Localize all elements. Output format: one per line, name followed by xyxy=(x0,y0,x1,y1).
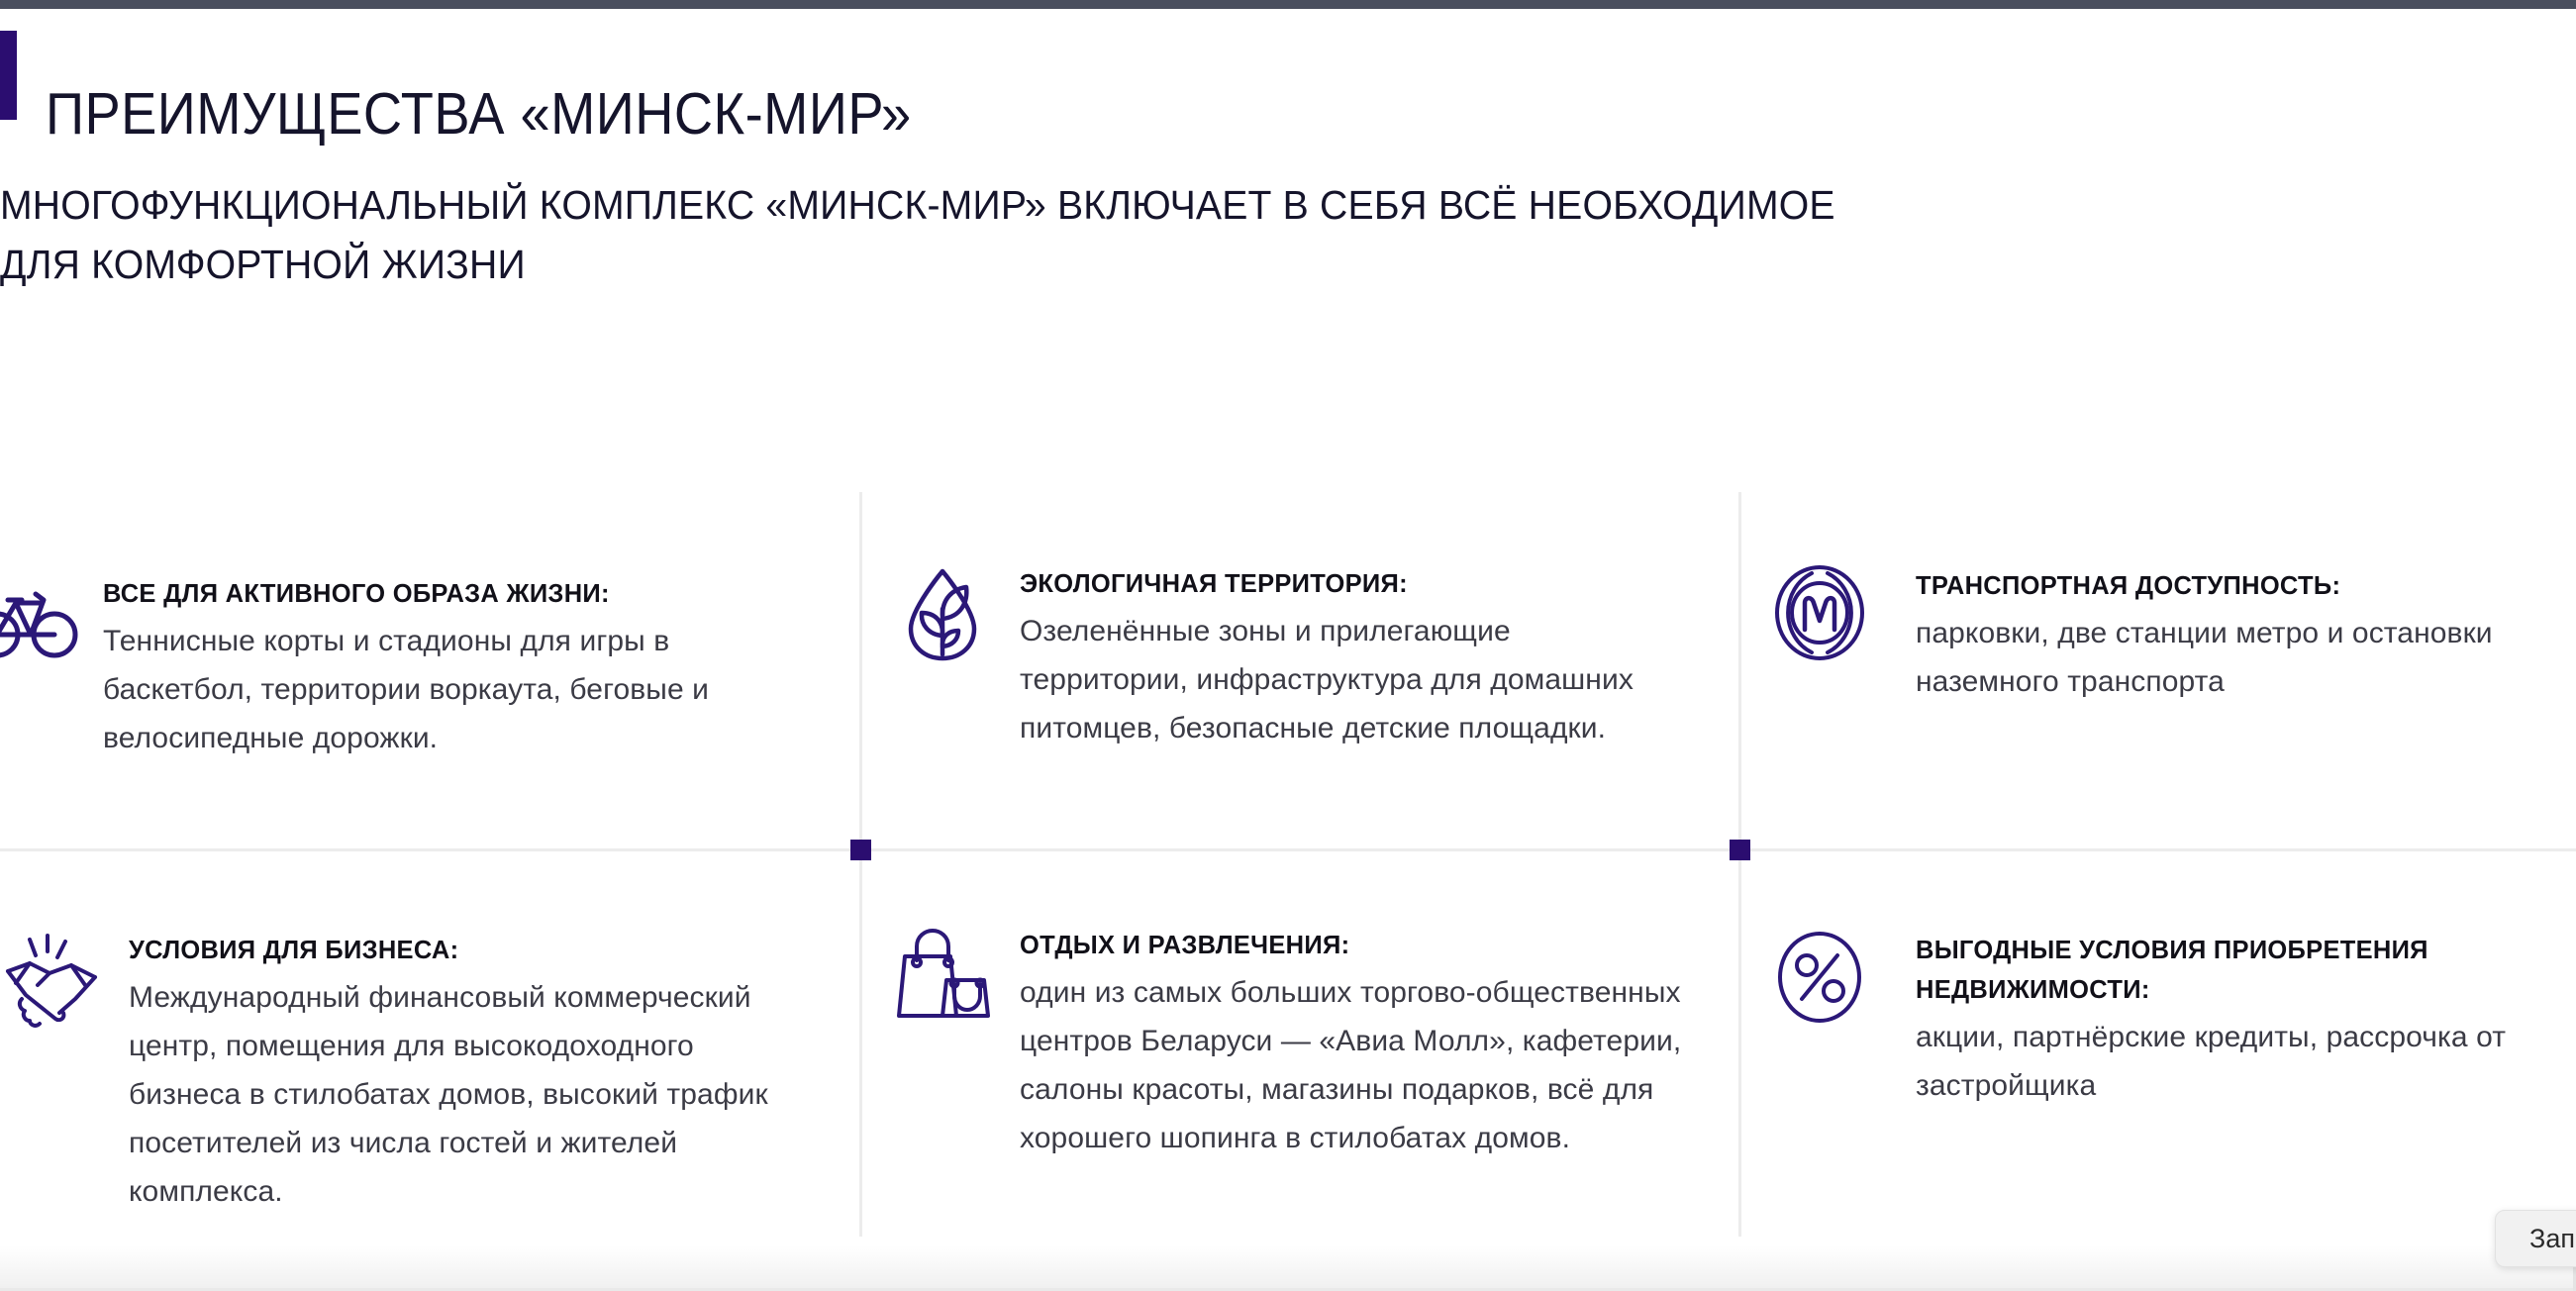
eco-leaf-drop-icon xyxy=(891,563,994,666)
grid-node-marker-2 xyxy=(1730,840,1750,860)
metro-icon xyxy=(1772,565,1867,660)
grid-divider-vertical-2 xyxy=(1738,492,1741,1237)
advantage-card-body: ВЫГОДНЫЕ УСЛОВИЯ ПРИОБРЕТЕНИЯ НЕДВИЖИМОС… xyxy=(1916,930,2576,1110)
floating-signup-label: Зап xyxy=(2529,1224,2575,1254)
advantage-card-text: один из самых больших торгово-общественн… xyxy=(1020,968,1693,1162)
advantage-card-title: ВСЕ ДЛЯ АКТИВНОГО ОБРАЗА ЖИЗНИ: xyxy=(103,573,743,613)
advantage-card-title: ВЫГОДНЫЕ УСЛОВИЯ ПРИОБРЕТЕНИЯ НЕДВИЖИМОС… xyxy=(1916,930,2576,1009)
page-title: ПРЕИМУЩЕСТВА «МИНСК-МИР» xyxy=(46,71,912,156)
title-accent-bar xyxy=(0,31,17,120)
advantage-card-title: УСЛОВИЯ ДЛЯ БИЗНЕСА: xyxy=(129,930,788,969)
grid-divider-vertical-1 xyxy=(859,492,862,1237)
advantage-card-body: ТРАНСПОРТНАЯ ДОСТУПНОСТЬ: парковки, две … xyxy=(1916,565,2576,706)
page-bottom-fade xyxy=(0,1245,2576,1291)
advantage-card-body: ОТДЫХ И РАЗВЛЕЧЕНИЯ: один из самых больш… xyxy=(1020,925,1693,1162)
page-subtitle-line-1: МНОГОФУНКЦИОНАЛЬНЫЙ КОМПЛЕКС «МИНСК-МИР»… xyxy=(0,175,2460,235)
advantage-card-text: Международный финансовый коммерческий це… xyxy=(129,973,802,1216)
advantage-card-text: парковки, две станции метро и остановки … xyxy=(1916,609,2576,706)
advantage-card-text: Озеленённые зоны и прилегающие территори… xyxy=(1020,607,1673,752)
percent-icon xyxy=(1772,930,1867,1025)
advantage-card-title: ЭКОЛОГИЧНАЯ ТЕРРИТОРИЯ: xyxy=(1020,563,1660,603)
advantage-card-body: ВСЕ ДЛЯ АКТИВНОГО ОБРАЗА ЖИЗНИ: Теннисны… xyxy=(103,573,756,762)
shopping-bags-icon xyxy=(891,925,994,1028)
page-content: ПРЕИМУЩЕСТВА «МИНСК-МИР» МНОГОФУНКЦИОНАЛ… xyxy=(0,9,2576,1291)
page-subtitle: МНОГОФУНКЦИОНАЛЬНЫЙ КОМПЛЕКС «МИНСК-МИР»… xyxy=(0,175,2460,294)
advantages-grid: ВСЕ ДЛЯ АКТИВНОГО ОБРАЗА ЖИЗНИ: Теннисны… xyxy=(0,484,2576,1237)
advantage-card-text: акции, партнёрские кредиты, рассрочка от… xyxy=(1916,1013,2576,1110)
advantage-card-title: ОТДЫХ И РАЗВЛЕЧЕНИЯ: xyxy=(1020,925,1679,964)
bicycle-icon xyxy=(0,573,77,676)
browser-top-bar xyxy=(0,0,2576,9)
grid-node-marker-1 xyxy=(850,840,871,860)
advantage-card-body: ЭКОЛОГИЧНАЯ ТЕРРИТОРИЯ: Озеленённые зоны… xyxy=(1020,563,1673,752)
advantage-card-text: Теннисные корты и стадионы для игры в ба… xyxy=(103,617,756,762)
handshake-icon xyxy=(0,930,103,1033)
advantage-card-title: ТРАНСПОРТНАЯ ДОСТУПНОСТЬ: xyxy=(1916,565,2576,605)
page-subtitle-line-2: ДЛЯ КОМФОРТНОЙ ЖИЗНИ xyxy=(0,235,2460,294)
grid-divider-horizontal xyxy=(0,848,2576,851)
advantage-card-body: УСЛОВИЯ ДЛЯ БИЗНЕСА: Международный финан… xyxy=(129,930,802,1216)
floating-signup-button[interactable]: Зап xyxy=(2495,1210,2576,1267)
